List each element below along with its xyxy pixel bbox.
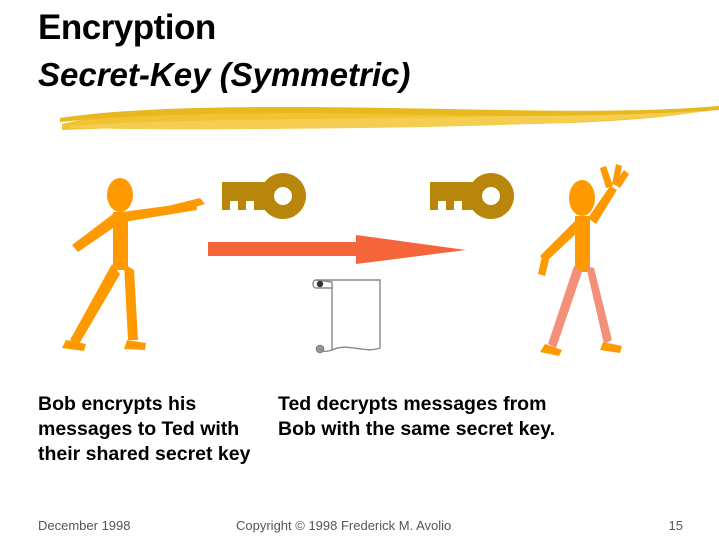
- page-title: Encryption: [38, 8, 216, 48]
- illustration-symmetric-encryption: [0, 140, 719, 380]
- stick-figure-bob: [62, 178, 205, 351]
- caption-bob: Bob encrypts his messages to Ted with th…: [38, 392, 258, 467]
- footer-date: December 1998: [38, 518, 131, 533]
- stick-figure-ted: [538, 164, 629, 356]
- key-icon-right: [430, 173, 514, 219]
- page-subtitle: Secret-Key (Symmetric): [38, 56, 410, 94]
- footer-copyright: Copyright © 1998 Frederick M. Avolio: [236, 518, 451, 533]
- brush-underline-decoration: [60, 104, 719, 134]
- slide: Encryption Secret-Key (Symmetric): [0, 0, 719, 539]
- caption-ted: Ted decrypts messages from Bob with the …: [278, 392, 558, 442]
- scroll-document: [313, 280, 380, 353]
- footer-page-number: 15: [669, 518, 683, 533]
- message-arrow: [208, 235, 466, 264]
- key-icon-left: [222, 173, 306, 219]
